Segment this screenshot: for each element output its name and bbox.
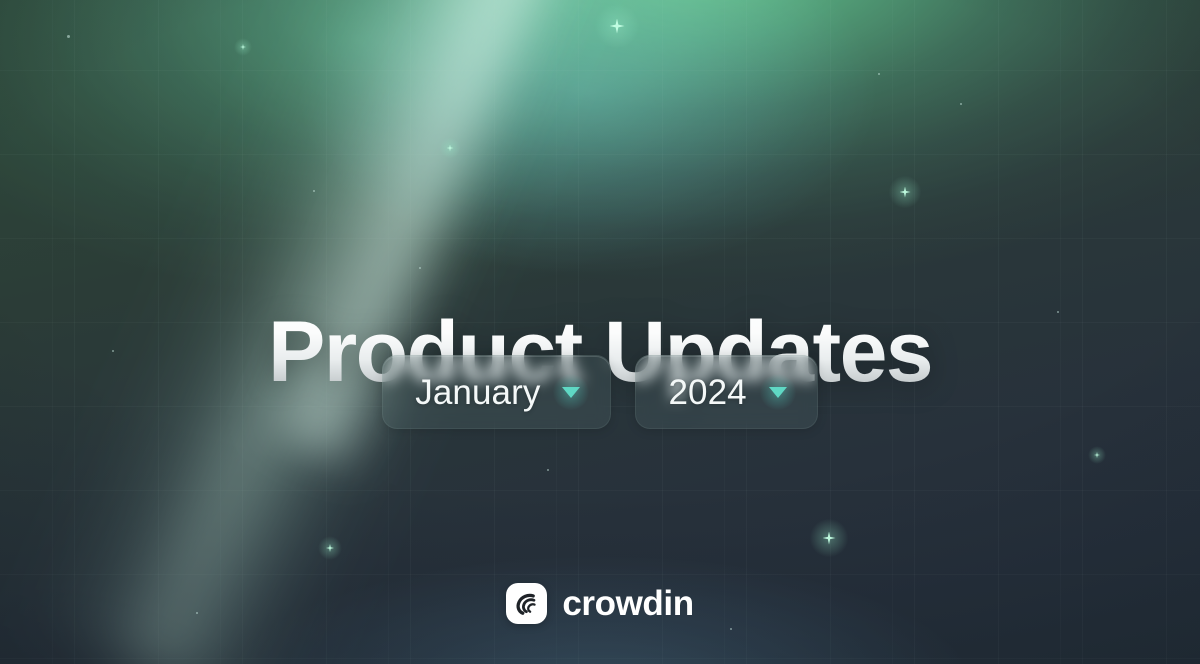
crowdin-brand-lockup: crowdin — [0, 583, 1200, 624]
year-dropdown-label: 2024 — [668, 375, 746, 410]
month-dropdown-label: January — [415, 375, 540, 410]
year-dropdown[interactable]: 2024 — [635, 355, 817, 429]
product-updates-banner: Product Updates January 2024 — [0, 0, 1200, 664]
chevron-down-icon[interactable] — [556, 377, 586, 407]
chevron-down-glyph — [769, 387, 787, 398]
chevron-down-glyph — [562, 387, 580, 398]
chevron-down-icon[interactable] — [763, 377, 793, 407]
crowdin-logo-icon — [506, 583, 547, 624]
period-selectors: January 2024 — [0, 355, 1200, 429]
crowdin-wordmark: crowdin — [562, 586, 693, 621]
month-dropdown[interactable]: January — [382, 355, 611, 429]
